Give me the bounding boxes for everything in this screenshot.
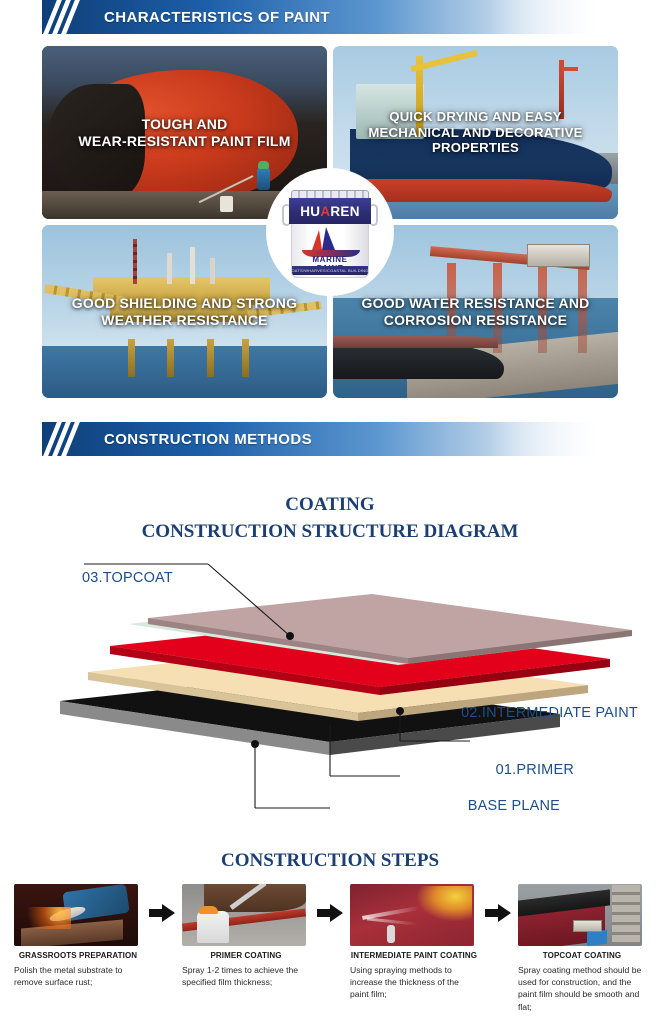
bucket-fine-print: BOATS/WHARVES/COASTAL BUILDINGS — [291, 268, 369, 273]
tile3-platform-leg — [167, 339, 174, 377]
tile3-platform-leg — [242, 339, 249, 377]
step-item[interactable]: INTERMEDIATE PAINT COATING Using sprayin… — [350, 884, 478, 1001]
banner-title-construction: CONSTRUCTION METHODS — [104, 431, 312, 448]
brand-accent-letter: A — [320, 204, 330, 219]
tile3-stack — [190, 247, 195, 283]
caption-line-1: GOOD SHIELDING AND STRONG — [53, 295, 315, 312]
construction-steps: GRASSROOTS PREPARATION Polish the metal … — [14, 884, 646, 1013]
banner-characteristics: CHARACTERISTICS OF PAINT — [42, 0, 618, 34]
sparks — [16, 907, 71, 928]
caption-line-1: TOUGH AND — [53, 116, 315, 133]
safety-helmet — [199, 906, 218, 914]
product-bucket-callout[interactable]: HUAREN MARINE PAINT BOATS/WHARVES/COASTA… — [266, 168, 394, 296]
caption-line-2: WEATHER RESISTANCE — [53, 312, 315, 329]
logo-sail-blue-icon — [322, 227, 335, 250]
step-item[interactable]: GRASSROOTS PREPARATION Polish the metal … — [14, 884, 142, 988]
logo-sail-red-icon — [312, 230, 322, 250]
caption-line-2: CORROSION RESISTANCE — [344, 312, 606, 329]
arrow-right-icon — [142, 884, 182, 922]
step-1-name: GRASSROOTS PREPARATION — [14, 951, 142, 960]
step-4-name: TOPCOAT COATING — [518, 951, 646, 960]
diagram-label-topcoat: 03.TOPCOAT — [82, 570, 173, 586]
feature-caption-shielding: GOOD SHIELDING AND STRONG WEATHER RESIST… — [53, 295, 315, 328]
tile4-ore-carrier-deck — [333, 336, 498, 348]
bucket-brand-band: HUAREN — [289, 198, 371, 224]
yellow-flare — [417, 886, 472, 921]
tile4-ore-carrier-hull — [333, 344, 504, 379]
step-3-description: Using spraying methods to increase the t… — [350, 964, 478, 1001]
feature-caption-water-resistance: GOOD WATER RESISTANCE AND CORROSION RESI… — [344, 295, 606, 328]
diagram-label-primer: 01.PRIMER — [496, 762, 574, 778]
tile1-paint-bucket — [220, 196, 233, 212]
step-1-description: Polish the metal substrate to remove sur… — [14, 964, 142, 988]
caption-line-2: MECHANICAL AND DECORATIVE — [344, 125, 606, 141]
caption-line-1: GOOD WATER RESISTANCE AND — [344, 295, 606, 312]
tile2-mast-crossbar — [561, 67, 578, 71]
bucket-body: MARINE PAINT BOATS/WHARVES/COASTAL BUILD… — [291, 224, 369, 278]
step-3-image — [350, 884, 474, 946]
step-1-image — [14, 884, 138, 946]
brand-name: HUAREN — [300, 204, 360, 219]
step-3-name: INTERMEDIATE PAINT COATING — [350, 951, 478, 960]
step-4-image — [518, 884, 642, 946]
arrow-right-icon — [310, 884, 350, 922]
bucket-fine-print-band: BOATS/WHARVES/COASTAL BUILDINGS — [292, 266, 368, 275]
step-item[interactable]: PRIMER COATING Spray 1-2 times to achiev… — [182, 884, 310, 988]
tile3-sea — [42, 346, 327, 398]
tile1-worker — [257, 168, 270, 190]
tile4-machine-house — [527, 244, 590, 266]
brand-prefix: HU — [300, 204, 320, 219]
product-page: CHARACTERISTICS OF PAINT TOUGH AND WEAR-… — [0, 0, 660, 1024]
step-2-name: PRIMER COATING — [182, 951, 310, 960]
steps-title: CONSTRUCTION STEPS — [0, 850, 660, 872]
banner-title-characteristics: CHARACTERISTICS OF PAINT — [104, 9, 330, 26]
arrow-right-icon — [478, 884, 518, 922]
diagonal-stripes-icon — [46, 422, 98, 456]
step-4-description: Spray coating method should be used for … — [518, 964, 646, 1013]
layer-stack-svg — [0, 546, 660, 846]
tile3-platform-leg — [207, 339, 214, 377]
step-item[interactable]: TOPCOAT COATING Spray coating method sho… — [518, 884, 646, 1013]
banner-construction-methods: CONSTRUCTION METHODS — [42, 422, 618, 456]
diagram-label-intermediate: 02.INTERMEDIATE PAINT — [418, 704, 638, 722]
caption-line-3: PROPERTIES — [344, 140, 606, 156]
feature-caption-quick-drying: QUICK DRYING AND EASY MECHANICAL AND DEC… — [344, 109, 606, 156]
spray-jet — [367, 917, 417, 925]
diagram-title-line-2: CONSTRUCTION STRUCTURE DIAGRAM — [0, 519, 660, 546]
worker-body — [197, 911, 229, 943]
tile3-stack — [167, 253, 172, 284]
tile3-platform-leg — [128, 339, 135, 377]
work-platform-lift — [573, 920, 603, 932]
caption-line-1: QUICK DRYING AND EASY — [344, 109, 606, 125]
diagram-label-base-plane: BASE PLANE — [468, 798, 560, 814]
diagram-title-line-1: COATING — [0, 492, 660, 519]
step-2-image — [182, 884, 306, 946]
coating-structure-diagram: 03.TOPCOAT 02.INTERMEDIATE PAINT 01.PRIM… — [0, 546, 660, 846]
tile3-antenna-tower — [133, 239, 137, 284]
step-2-description: Spray 1-2 times to achieve the specified… — [182, 964, 310, 988]
logo-line-marine: MARINE — [292, 255, 368, 264]
tile2-ship-hull-red — [350, 179, 612, 201]
caption-line-2: WEAR-RESISTANT PAINT FILM — [53, 133, 315, 150]
tile3-stack — [210, 258, 215, 284]
diagram-title: COATING CONSTRUCTION STRUCTURE DIAGRAM — [0, 492, 660, 546]
feature-caption-tough: TOUGH AND WEAR-RESISTANT PAINT FILM — [53, 116, 315, 149]
spray-operator — [387, 925, 395, 943]
paint-bucket: HUAREN MARINE PAINT BOATS/WHARVES/COASTA… — [287, 184, 373, 280]
brand-suffix: REN — [330, 204, 359, 219]
diagonal-stripes-icon — [46, 0, 98, 34]
scaffolding — [612, 885, 639, 943]
